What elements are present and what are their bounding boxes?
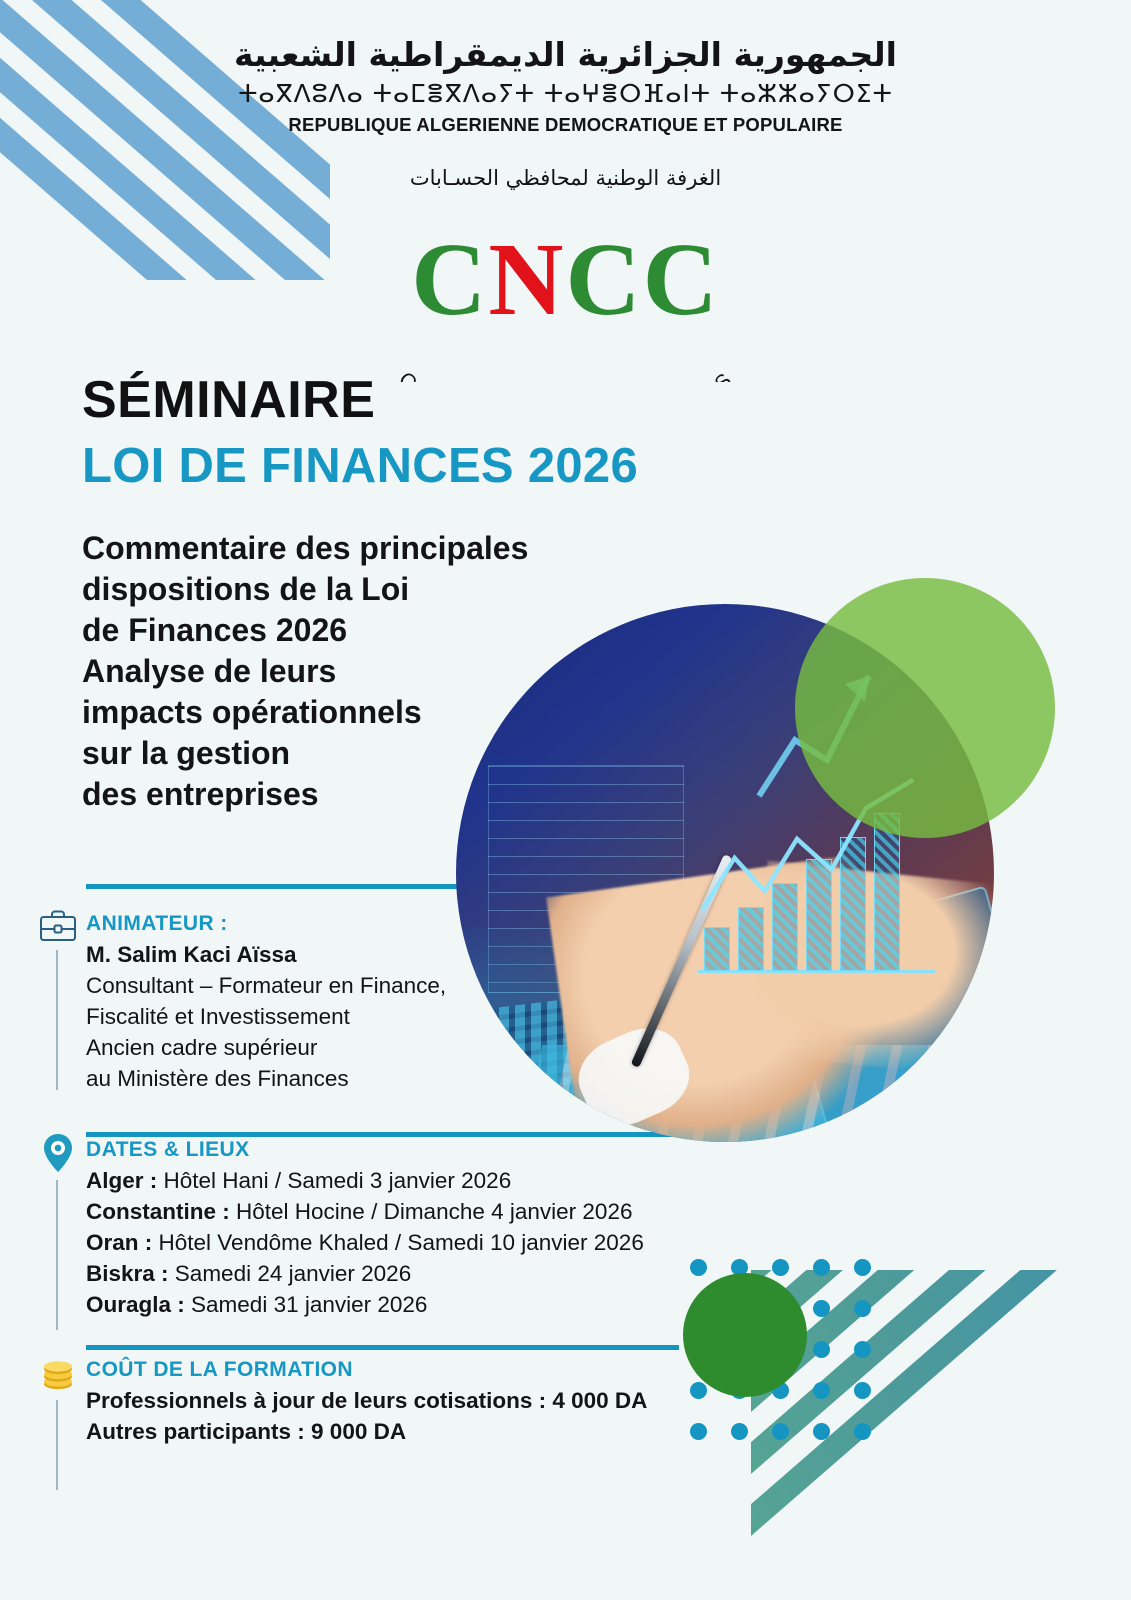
logo-letter-n: N bbox=[488, 222, 565, 337]
section-vertical-rule bbox=[56, 1180, 58, 1330]
title-loi-de-finances: LOI DE FINANCES 2026 bbox=[82, 442, 638, 491]
date-detail: Hôtel Vendôme Khaled / Samedi 10 janvier… bbox=[152, 1230, 644, 1255]
date-detail: Samedi 24 janvier 2026 bbox=[169, 1261, 412, 1286]
animateur-line: Fiscalité et Investissement bbox=[86, 1001, 446, 1032]
cout-entry: Professionnels à jour de leurs cotisatio… bbox=[86, 1385, 647, 1416]
logo-letter-c3: C bbox=[643, 222, 720, 337]
date-city: Biskra : bbox=[86, 1261, 169, 1286]
coins-icon bbox=[38, 1354, 78, 1394]
dates-body: Alger : Hôtel Hani / Samedi 3 janvier 20… bbox=[86, 1165, 644, 1320]
map-pin-icon bbox=[42, 1132, 74, 1178]
section-vertical-rule bbox=[56, 1400, 58, 1490]
subtitle-block: Commentaire des principales dispositions… bbox=[82, 528, 642, 815]
subtitle-line: sur la gestion bbox=[82, 733, 642, 774]
date-city: Oran : bbox=[86, 1230, 152, 1255]
section-animateur: ANIMATEUR : M. Salim Kaci Aïssa Consulta… bbox=[86, 912, 446, 1094]
cout-entry: Autres participants : 9 000 DA bbox=[86, 1416, 647, 1447]
subtitle-line: dispositions de la Loi bbox=[82, 569, 642, 610]
date-entry: Ouragla : Samedi 31 janvier 2026 bbox=[86, 1289, 644, 1320]
date-entry: Alger : Hôtel Hani / Samedi 3 janvier 20… bbox=[86, 1165, 644, 1196]
logo-acronym: CNCC bbox=[411, 228, 719, 332]
date-entry: Biskra : Samedi 24 janvier 2026 bbox=[86, 1258, 644, 1289]
date-entry: Constantine : Hôtel Hocine / Dimanche 4 … bbox=[86, 1196, 644, 1227]
subtitle-line: impacts opérationnels bbox=[82, 692, 642, 733]
decor-dot-grid bbox=[678, 1247, 883, 1452]
dates-heading: DATES & LIEUX bbox=[86, 1138, 644, 1162]
animateur-line: Ancien cadre supérieur bbox=[86, 1032, 446, 1063]
decor-green-overlay-circle bbox=[795, 578, 1055, 838]
date-detail: Samedi 31 janvier 2026 bbox=[185, 1292, 428, 1317]
section-separator bbox=[86, 1345, 679, 1350]
logo-arabic-caption: الغرفة الوطنية لمحافظي الحسـابات bbox=[0, 166, 1131, 191]
subtitle-line: des entreprises bbox=[82, 774, 642, 815]
animateur-heading: ANIMATEUR : bbox=[86, 912, 446, 936]
date-city: Alger : bbox=[86, 1168, 157, 1193]
republic-arabic: الجمهورية الجزائرية الديمقراطية الشعبية bbox=[0, 34, 1131, 75]
republic-french: REPUBLIQUE ALGERIENNE DEMOCRATIQUE ET PO… bbox=[0, 114, 1131, 136]
section-cout-formation: COÛT DE LA FORMATION Professionnels à jo… bbox=[86, 1358, 647, 1447]
republic-header: الجمهورية الجزائرية الديمقراطية الشعبية … bbox=[0, 34, 1131, 136]
animateur-line: au Ministère des Finances bbox=[86, 1063, 446, 1094]
section-separator bbox=[86, 884, 461, 889]
decor-green-circle bbox=[683, 1273, 807, 1397]
date-detail: Hôtel Hocine / Dimanche 4 janvier 2026 bbox=[230, 1199, 633, 1224]
subtitle-line: Analyse de leurs bbox=[82, 651, 642, 692]
cncc-logo: الغرفة الوطنية لمحافظي الحسـابات CHAMBRE… bbox=[0, 166, 1131, 366]
title-block: SÉMINAIRE LOI DE FINANCES 2026 bbox=[82, 374, 638, 491]
poster-canvas: الجمهورية الجزائرية الديمقراطية الشعبية … bbox=[0, 0, 1131, 1600]
date-city: Constantine : bbox=[86, 1199, 230, 1224]
subtitle-line: Commentaire des principales bbox=[82, 528, 642, 569]
decor-stripes-bottom-right bbox=[751, 1270, 1131, 1600]
date-entry: Oran : Hôtel Vendôme Khaled / Samedi 10 … bbox=[86, 1227, 644, 1258]
date-detail: Hôtel Hani / Samedi 3 janvier 2026 bbox=[157, 1168, 511, 1193]
cout-heading: COÛT DE LA FORMATION bbox=[86, 1358, 647, 1382]
republic-tifinagh: ⵜⴰⴳⴷⵓⴷⴰ ⵜⴰⵎⴻⴳⴷⴰⵢⵜ ⵜⴰⵖⴻⵔⴼⴰⵏⵜ ⵜⴰⵣⵣⴰⵢⵔⵉⵜ bbox=[0, 79, 1131, 108]
briefcase-icon bbox=[38, 908, 78, 946]
subtitle-line: de Finances 2026 bbox=[82, 610, 642, 651]
logo-letter-c1: C bbox=[411, 222, 488, 337]
date-city: Ouragla : bbox=[86, 1292, 185, 1317]
logo-letter-c2: C bbox=[566, 222, 643, 337]
animateur-name: M. Salim Kaci Aïssa bbox=[86, 939, 446, 970]
title-seminaire: SÉMINAIRE bbox=[82, 374, 638, 426]
animateur-body: M. Salim Kaci Aïssa Consultant – Formate… bbox=[86, 939, 446, 1094]
section-vertical-rule bbox=[56, 950, 58, 1090]
animateur-line: Consultant – Formateur en Finance, bbox=[86, 970, 446, 1001]
section-dates-lieux: DATES & LIEUX Alger : Hôtel Hani / Samed… bbox=[86, 1138, 644, 1320]
cout-body: Professionnels à jour de leurs cotisatio… bbox=[86, 1385, 647, 1447]
